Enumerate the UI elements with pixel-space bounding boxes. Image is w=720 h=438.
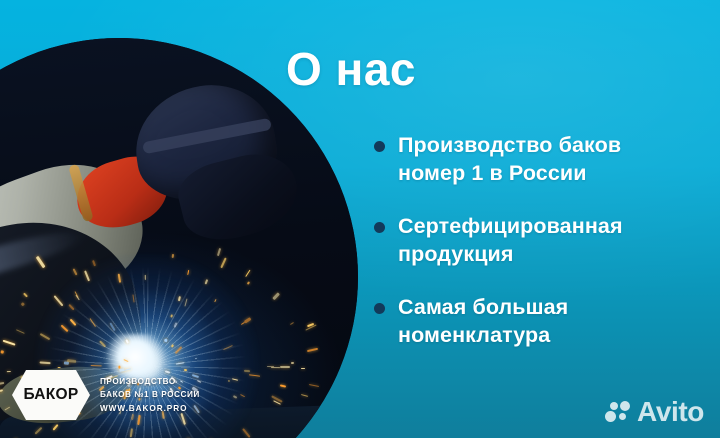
feature-list: Производство баков номер 1 в России Серт… bbox=[374, 132, 694, 349]
avito-dot bbox=[605, 411, 616, 422]
poster-canvas: О нас Производство баков номер 1 в Росси… bbox=[0, 0, 720, 438]
feature-text: Сертефицированная продукция bbox=[398, 214, 623, 266]
brand-tagline-line1: Производство bbox=[100, 375, 200, 388]
brand-url: www.bakor.pro bbox=[100, 402, 200, 415]
list-item: Производство баков номер 1 в России bbox=[374, 132, 694, 187]
feature-text: Производство баков номер 1 в России bbox=[398, 133, 621, 185]
avito-watermark: Avito bbox=[605, 396, 704, 428]
avito-dots-icon bbox=[605, 400, 631, 424]
brand-lockup: БАКОР Производство баков №1 в России www… bbox=[12, 369, 200, 421]
avito-dot bbox=[619, 413, 626, 420]
brand-tagline: Производство баков №1 в России www.bakor… bbox=[100, 375, 200, 415]
avito-dot bbox=[620, 401, 630, 411]
brand-tagline-line2: баков №1 в России bbox=[100, 388, 200, 401]
feature-text: Самая большая номенклатура bbox=[398, 295, 568, 347]
bullet-dot-icon bbox=[374, 222, 385, 233]
bullet-dot-icon bbox=[374, 141, 385, 152]
list-item: Сертефицированная продукция bbox=[374, 213, 694, 268]
page-title: О нас bbox=[286, 45, 586, 93]
avito-wordmark: Avito bbox=[637, 396, 704, 428]
brand-logo-text: БАКОР bbox=[23, 386, 78, 404]
brand-logo-hexagon: БАКОР bbox=[12, 369, 90, 421]
bullet-dot-icon bbox=[374, 303, 385, 314]
avito-dot bbox=[610, 402, 618, 410]
list-item: Самая большая номенклатура bbox=[374, 294, 694, 349]
